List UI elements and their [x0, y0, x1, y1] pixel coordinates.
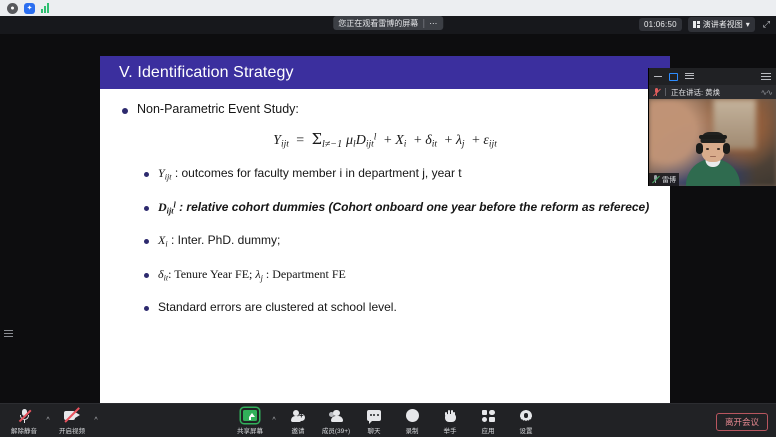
toolbar-center-group: 共享屏幕 ^ 邀请 成员(39+) 聊天 — [232, 406, 544, 435]
screen-share-notice[interactable]: 您正在观看雷博的屏幕 ⋯ — [333, 16, 443, 30]
layout-options-icon[interactable] — [761, 73, 771, 79]
regression-equation: Yijt = Σl≠−1 μlDijtl + Xi + δit + λj + ε… — [114, 131, 656, 150]
mic-muted-icon — [19, 408, 30, 423]
viewing-notice-text: 您正在观看雷博的屏幕 — [338, 18, 418, 29]
signal-bars-icon[interactable] — [41, 3, 52, 14]
shield-icon[interactable]: ✦ — [24, 3, 35, 14]
bullet-dot-icon — [122, 108, 128, 114]
settings-label: 设置 — [520, 425, 533, 435]
raise-hand-label: 举手 — [444, 425, 457, 435]
sub-bullet-x-text: : Inter. PhD. dummy; — [168, 233, 281, 247]
notice-divider — [423, 19, 424, 28]
sub-bullet-d: Dijtl : relative cohort dummies (Cohort … — [114, 200, 656, 216]
slide-title-band: V. Identification Strategy — [100, 56, 670, 89]
sub-bullet-se-label: Standard errors are clustered at school … — [158, 300, 397, 315]
raise-hand-button[interactable]: 举手 — [432, 406, 468, 435]
audio-options-caret-icon[interactable]: ^ — [44, 417, 52, 435]
share-screen-label: 共享屏幕 — [237, 425, 263, 435]
restore-window-icon[interactable] — [669, 73, 678, 81]
chat-bubble-icon — [367, 408, 381, 423]
sub-bullet-se: Standard errors are clustered at school … — [114, 300, 656, 315]
sub-bullet-x-label: Xi : Inter. PhD. dummy; — [158, 233, 280, 249]
audio-waveform-icon: ∿∿ — [761, 88, 772, 97]
sub-bullet-fe-label: δit: Tenure Year FE; λj : Department FE — [158, 267, 346, 283]
meeting-timer: 01:06:50 — [639, 18, 682, 31]
bullet-dot-icon — [144, 306, 149, 311]
invite-button[interactable]: 邀请 — [280, 406, 316, 435]
share-options-caret-icon[interactable]: ^ — [270, 417, 278, 435]
start-video-label: 开启视频 — [59, 425, 85, 435]
record-indicator-icon[interactable]: ● — [7, 3, 18, 14]
apps-grid-icon — [482, 408, 495, 423]
raise-hand-icon — [445, 408, 456, 423]
sub-bullet-x: Xi : Inter. PhD. dummy; — [114, 233, 656, 249]
settings-button[interactable]: 设置 — [508, 406, 544, 435]
sub-bullet-y: Yijt : outcomes for faculty member i in … — [114, 166, 656, 182]
apps-label: 应用 — [482, 425, 495, 435]
view-mode-button[interactable]: 演讲者视图 ▾ — [688, 17, 755, 32]
os-tray-icons: ● ✦ — [0, 3, 52, 14]
sub-bullet-y-text: : outcomes for faculty member i in depar… — [172, 166, 462, 180]
camera-off-icon — [64, 408, 80, 423]
shared-screen-stage: V. Identification Strategy Non-Parametri… — [0, 34, 776, 403]
view-mode-label: 演讲者视图 — [703, 19, 743, 30]
record-button[interactable]: 录制 — [394, 406, 430, 435]
mic-muted-icon — [653, 88, 660, 97]
zoom-meeting-window: ● ✦ 您正在观看雷博的屏幕 ⋯ 01:06:50 演讲者视图 ▾ ⤢ — [0, 0, 776, 437]
bullet-heading: Non-Parametric Event Study: — [114, 102, 656, 118]
sub-bullet-y-label: Yijt : outcomes for faculty member i in … — [158, 166, 462, 182]
participants-button[interactable]: 成员(39+) — [318, 406, 354, 435]
speaking-label: 正在讲话: 黄焕 — [671, 87, 720, 98]
gear-icon — [520, 408, 533, 423]
meeting-top-bar: 您正在观看雷博的屏幕 ⋯ 01:06:50 演讲者视图 ▾ ⤢ — [0, 16, 776, 34]
minimize-icon[interactable] — [654, 76, 662, 77]
sub-bullet-d-label: Dijtl : relative cohort dummies (Cohort … — [158, 200, 649, 216]
share-screen-icon — [241, 408, 259, 423]
participants-icon — [329, 408, 343, 423]
participant-name: 雷博 — [662, 175, 676, 185]
slide-body: Non-Parametric Event Study: Yijt = Σl≠−1… — [100, 89, 670, 315]
unmute-label: 解除静音 — [11, 425, 37, 435]
chat-label: 聊天 — [368, 425, 381, 435]
bullet-dot-icon — [144, 273, 149, 278]
mic-icon — [652, 175, 659, 184]
bullet-dot-icon — [144, 206, 149, 211]
left-rail — [0, 34, 16, 403]
record-circle-icon — [406, 408, 419, 423]
leave-meeting-button[interactable]: 离开会议 — [716, 413, 768, 431]
chat-button[interactable]: 聊天 — [356, 406, 392, 435]
apps-button[interactable]: 应用 — [470, 406, 506, 435]
participant-name-badge: 雷博 — [649, 173, 679, 186]
os-menu-bar: ● ✦ — [0, 0, 776, 16]
chevron-down-icon[interactable]: ▾ — [746, 20, 750, 29]
start-video-button[interactable]: 开启视频 — [54, 406, 90, 435]
video-feed[interactable]: 雷博 — [649, 99, 776, 186]
presentation-slide: V. Identification Strategy Non-Parametri… — [100, 56, 670, 403]
annotation-menu-icon[interactable] — [4, 330, 13, 338]
sub-bullet-fe: δit: Tenure Year FE; λj : Department FE — [114, 267, 656, 283]
more-options-icon[interactable]: ⋯ — [429, 19, 438, 28]
speaker-view-icon — [693, 21, 700, 28]
video-panel-controls — [649, 68, 776, 85]
floating-video-panel[interactable]: 正在讲话: 黄焕 ∿∿ — [648, 68, 776, 186]
share-screen-button[interactable]: 共享屏幕 — [232, 406, 268, 435]
meeting-top-right-controls: 01:06:50 演讲者视图 ▾ ⤢ — [639, 17, 772, 32]
fullscreen-icon[interactable]: ⤢ — [761, 20, 772, 29]
list-view-icon[interactable] — [685, 73, 694, 81]
participant-figure — [684, 130, 742, 186]
bullet-heading-label: Non-Parametric Event Study: — [137, 102, 299, 118]
video-options-caret-icon[interactable]: ^ — [92, 417, 100, 435]
participants-label: 成员(39+) — [322, 425, 350, 435]
speaking-status-bar: 正在讲话: 黄焕 ∿∿ — [649, 85, 776, 99]
meeting-toolbar: 解除静音 ^ 开启视频 ^ 共享屏幕 ^ — [0, 403, 776, 437]
sub-bullet-d-text: : relative cohort dummies (Cohort onboar… — [176, 200, 649, 214]
bullet-dot-icon — [144, 239, 149, 244]
unmute-button[interactable]: 解除静音 — [6, 406, 42, 435]
status-divider — [665, 88, 666, 96]
record-label: 录制 — [406, 425, 419, 435]
slide-title: V. Identification Strategy — [100, 64, 294, 82]
invite-person-icon — [291, 408, 305, 423]
toolbar-left-group: 解除静音 ^ 开启视频 ^ — [0, 406, 100, 435]
toolbar-right-group: 离开会议 — [716, 412, 776, 430]
invite-label: 邀请 — [292, 425, 305, 435]
bullet-dot-icon — [144, 172, 149, 177]
